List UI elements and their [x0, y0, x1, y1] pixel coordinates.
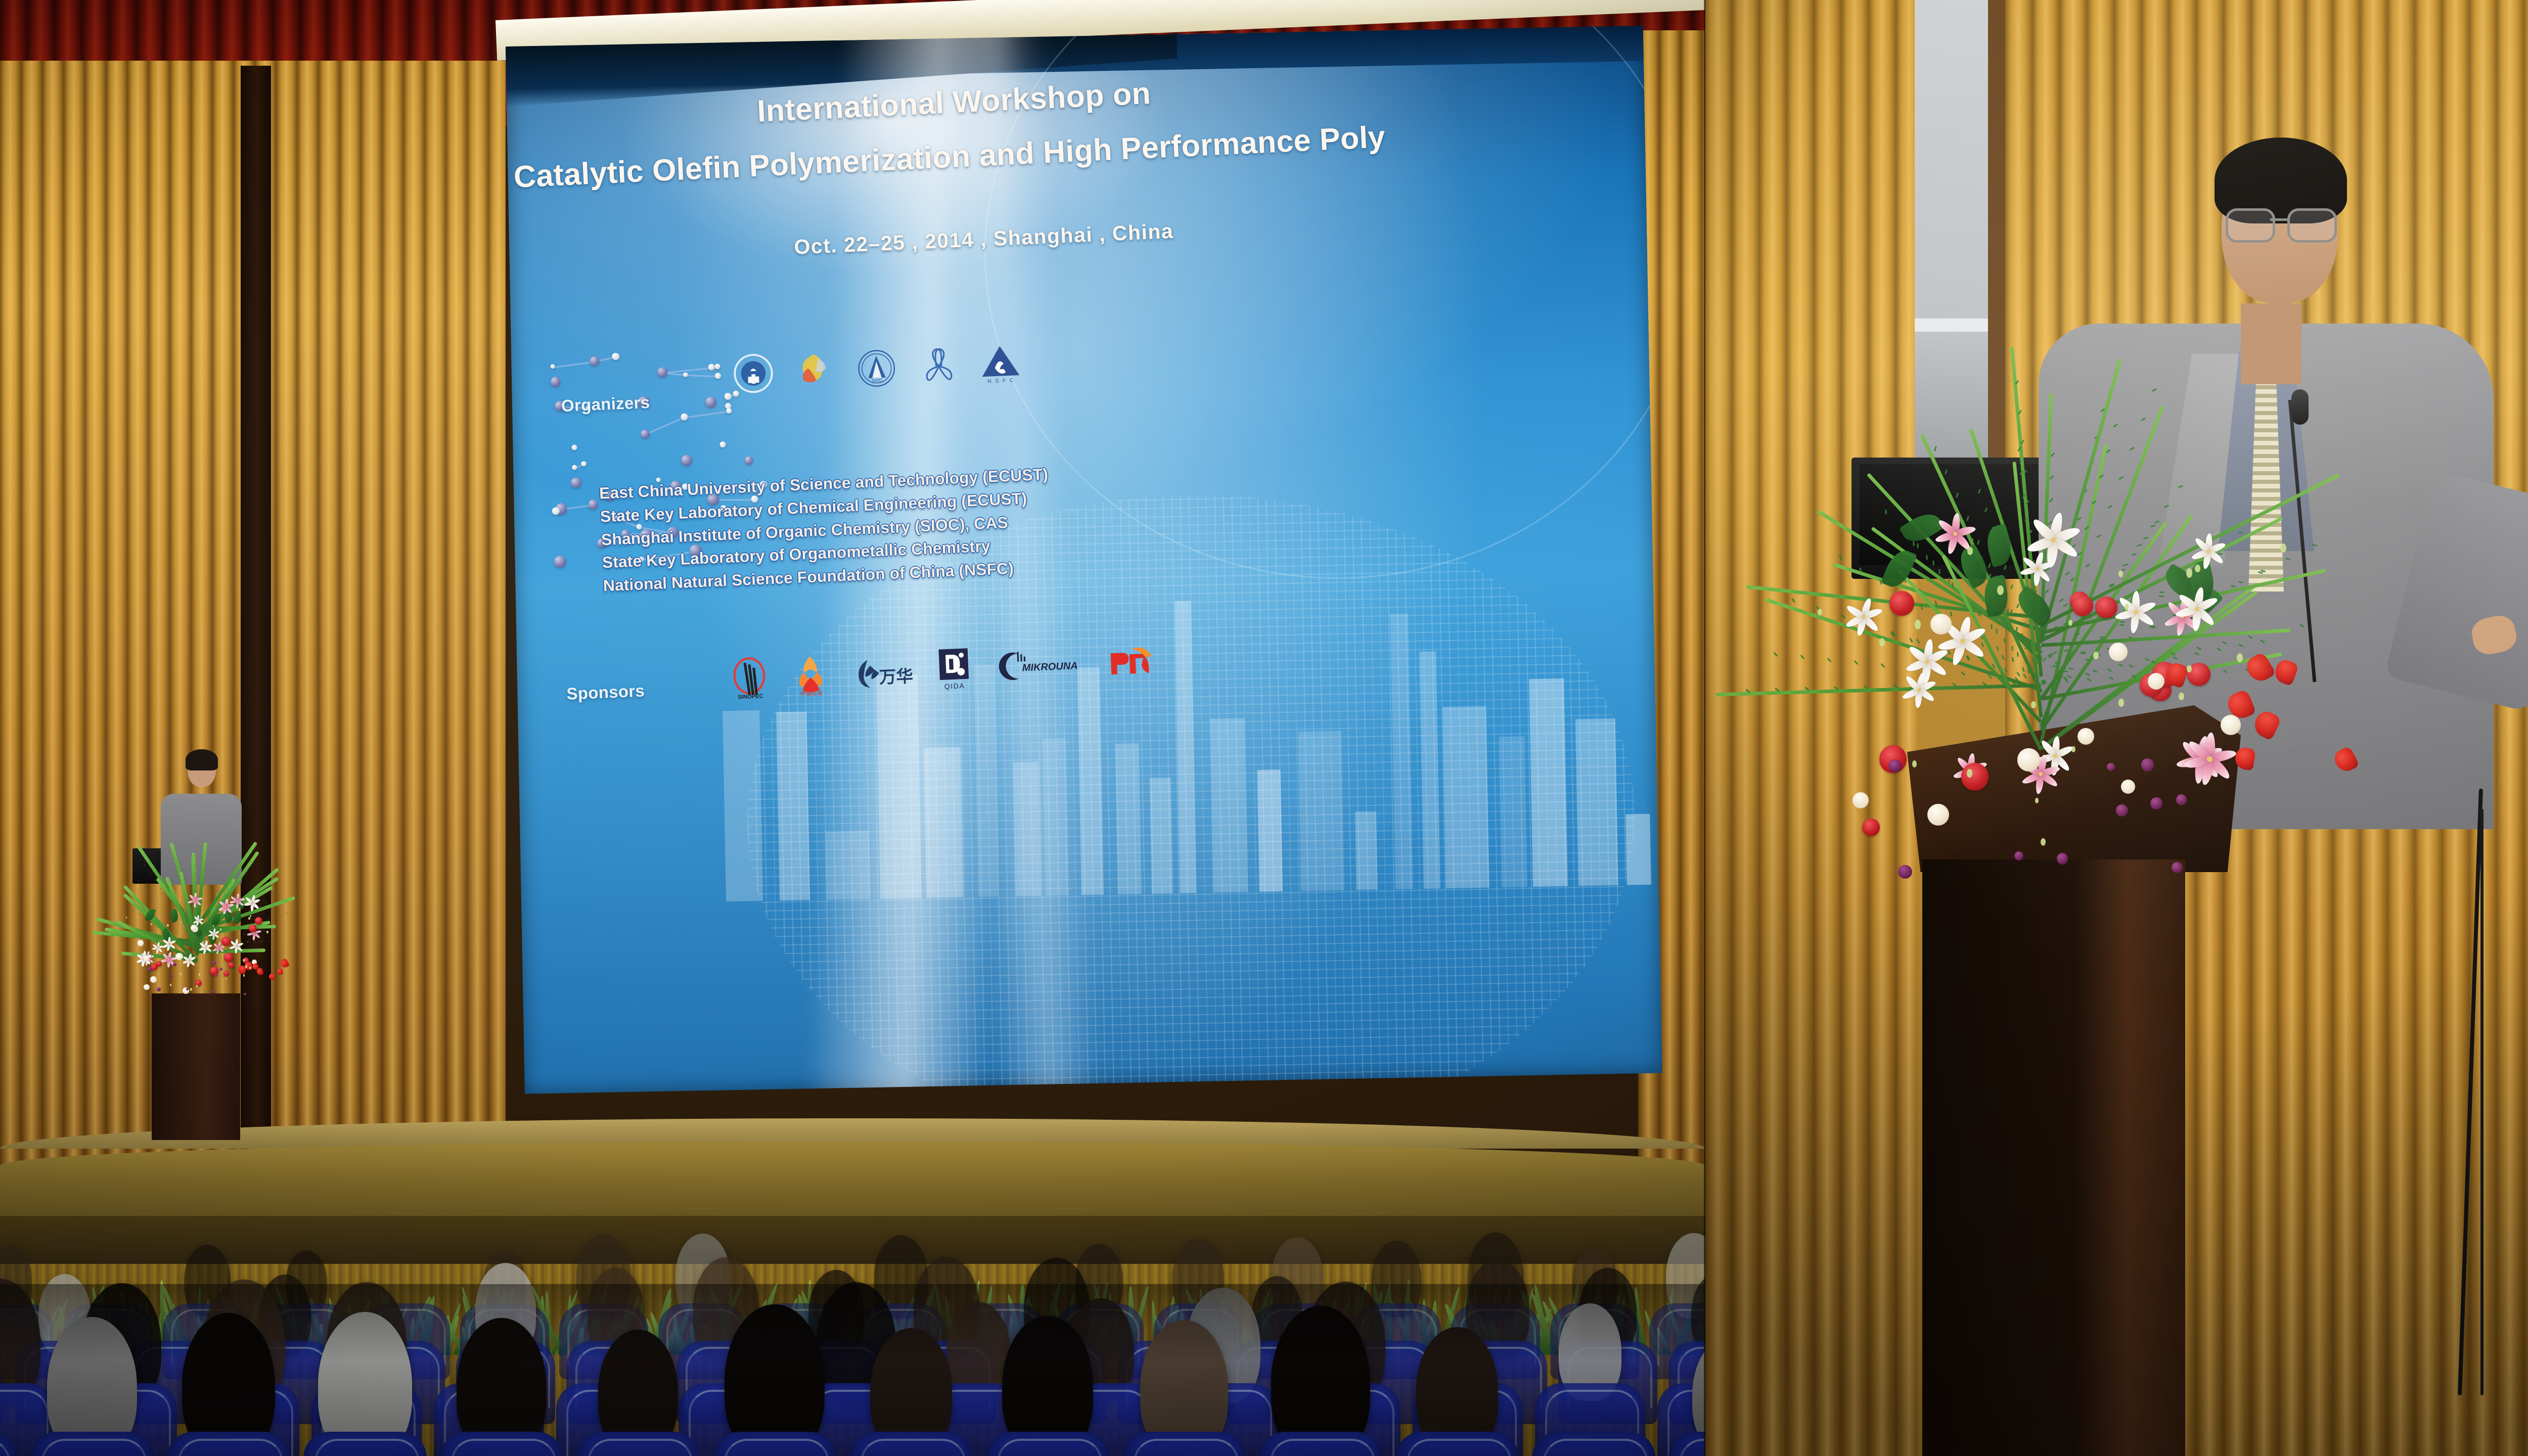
palm-leaflet	[175, 887, 176, 889]
palm-leaflet	[2218, 553, 2223, 555]
palm-leaflet	[1947, 650, 1951, 655]
palm-leaflet	[151, 894, 152, 895]
flower-bud	[250, 915, 251, 917]
palm-leaflet	[203, 878, 205, 879]
palm-leaflet	[2051, 452, 2055, 457]
palm-leaflet	[2010, 584, 2013, 589]
skyline-building	[1442, 706, 1489, 888]
palm-leaflet	[125, 906, 126, 908]
molecule-atom	[590, 356, 600, 366]
wanhua-logo: 万华	[849, 649, 917, 694]
anthurium	[2234, 747, 2256, 771]
skyline-building	[1626, 814, 1651, 885]
palm-leaflet	[1988, 563, 1991, 568]
palm-leaflet	[2118, 476, 2124, 480]
palm-leaflet	[268, 919, 269, 920]
cream-rose	[138, 940, 144, 946]
palm-leaflet	[115, 919, 117, 921]
palm-leaflet	[263, 930, 265, 931]
purple-orchid	[219, 968, 222, 971]
palm-leaflet	[2004, 668, 2008, 673]
palm-leaflet	[2109, 676, 2114, 680]
molecule-atom	[572, 465, 577, 470]
cream-rose	[2078, 728, 2095, 745]
molecule-bond	[684, 411, 729, 418]
palm-leaflet	[2222, 641, 2227, 645]
pti-logo	[1098, 640, 1161, 685]
palm-leaflet	[2004, 638, 2006, 643]
podium-closeup	[1922, 859, 2185, 1456]
svg-text:QIDA: QIDA	[944, 681, 965, 691]
palm-leaflet	[227, 924, 228, 925]
molecule-atom	[719, 441, 726, 448]
cream-rose	[150, 976, 157, 983]
palm-leaflet	[176, 931, 177, 933]
purple-orchid	[170, 975, 173, 977]
flower-bud	[1967, 547, 1973, 555]
molecule-atom	[683, 372, 688, 377]
flower-bud	[239, 908, 241, 911]
lily-center	[253, 932, 255, 934]
flower-bud	[2068, 620, 2072, 626]
eyeglasses-icon	[2287, 208, 2337, 243]
purple-orchid	[2057, 853, 2068, 864]
flower-bud	[2041, 838, 2046, 846]
palm-leaflet	[2137, 544, 2142, 547]
palm-leaflet	[140, 914, 141, 915]
palm-leaflet	[1854, 660, 1859, 665]
city-skyline-graphic	[720, 571, 1636, 901]
cream-rose	[144, 984, 150, 990]
ecust-seal-logo	[733, 353, 774, 394]
palm-leaflet	[259, 941, 261, 943]
palm-leaflet	[2159, 596, 2164, 598]
flower-bud	[1879, 638, 1885, 647]
palm-frond	[1716, 684, 2041, 696]
palm-leaflet	[152, 929, 153, 931]
palm-leaflet	[216, 942, 217, 943]
lily-center	[1925, 659, 1929, 664]
palm-leaflet	[1926, 555, 1928, 560]
skyline-building	[1257, 769, 1283, 892]
palm-leaflet	[2238, 644, 2243, 648]
red-rose	[1862, 818, 1880, 836]
palm-leaflet	[2223, 669, 2228, 673]
flower-bud	[1912, 760, 1917, 767]
palm-leaflet	[2149, 626, 2154, 628]
podium-wide	[152, 993, 240, 1140]
molecule-atom	[612, 353, 619, 360]
palm-leaflet	[2061, 667, 2066, 669]
palm-leaflet	[2150, 525, 2155, 527]
red-rose	[221, 937, 231, 946]
molecule-atom	[725, 393, 732, 400]
palm-leaflet	[2173, 656, 2178, 660]
skyline-building	[1150, 778, 1173, 894]
skyline-building	[1043, 738, 1068, 896]
palm-leaflet	[2285, 558, 2290, 560]
broad-leaf	[233, 911, 242, 924]
palm-leaflet	[1934, 446, 1937, 451]
palm-leaflet	[1948, 577, 1950, 582]
palm-leaflet	[1916, 639, 1920, 644]
auditorium-seat	[1122, 1432, 1246, 1456]
cream-rose	[1930, 614, 1952, 635]
molecule-atom	[708, 364, 715, 371]
purple-orchid	[173, 963, 176, 966]
audience-seating-left	[0, 1284, 1705, 1456]
flower-arrangement-closeup	[1705, 445, 2377, 900]
palm-leaflet	[2238, 531, 2243, 533]
sinopec-logo: SINOPEC	[727, 655, 772, 699]
palm-leaflet	[2059, 599, 2064, 603]
skyline-building	[974, 664, 998, 897]
flower-bud	[248, 917, 250, 920]
palm-leaflet	[2002, 655, 2005, 660]
palm-leaflet	[158, 900, 158, 902]
palm-leaflet	[1977, 539, 1980, 544]
flower-bud	[2187, 665, 2192, 672]
palm-leaflet	[2107, 668, 2112, 672]
wide-auditorium-panel: International Workshop on Catalytic Olef…	[0, 0, 1705, 1456]
palm-leaflet	[1791, 598, 1795, 603]
palm-leaflet	[2085, 564, 2090, 568]
palm-leaflet	[2196, 647, 2201, 650]
auditorium-seat	[1532, 1432, 1655, 1456]
conference-banner: International Workshop on Catalytic Olef…	[506, 26, 1662, 1094]
palm-leaflet	[204, 939, 205, 939]
palm-leaflet	[224, 933, 225, 934]
flower-bud	[2118, 570, 2123, 577]
speaker-hair-wide	[186, 749, 218, 770]
molecule-atom	[715, 364, 720, 370]
palm-leaflet	[1996, 646, 1999, 651]
palm-leaflet	[2248, 635, 2253, 639]
palm-leaflet	[270, 896, 272, 896]
red-rose	[2095, 597, 2117, 619]
purple-orchid	[2176, 794, 2187, 805]
anthurium	[2331, 745, 2359, 775]
flower-bud	[190, 988, 192, 991]
palm-leaflet	[2050, 475, 2054, 479]
palm-leaflet	[2096, 534, 2101, 538]
purple-orchid	[148, 967, 152, 972]
flower-bud	[2031, 701, 2036, 708]
purple-orchid	[2014, 851, 2023, 860]
flower-bud	[196, 985, 198, 987]
flower-bud	[1915, 620, 1921, 629]
palm-leaflet	[160, 888, 161, 889]
purple-orchid	[212, 990, 215, 993]
auditorium-seat	[849, 1432, 973, 1456]
lily-center	[2134, 610, 2138, 614]
purple-orchid	[186, 988, 189, 990]
palm-leaflet	[1952, 583, 1954, 588]
palm-leaflet	[1839, 555, 1842, 560]
auditorium-seat	[30, 1432, 154, 1456]
petrochina-logo: 中国石油	[789, 653, 833, 697]
palm-leaflet	[2154, 521, 2159, 523]
skyline-building	[1419, 651, 1440, 889]
palm-leaflet	[2085, 672, 2090, 676]
molecule-atom	[726, 408, 732, 414]
lily-center	[237, 900, 238, 902]
purple-orchid	[215, 974, 217, 977]
flower-bud	[180, 973, 182, 975]
skyline-building	[1013, 762, 1041, 896]
skyline-building	[1175, 601, 1196, 893]
molecule-atom	[572, 444, 577, 450]
palm-leaflet	[178, 922, 178, 923]
palm-leaflet	[169, 902, 169, 904]
cream-rose	[1927, 804, 1949, 826]
palm-leaflet	[263, 900, 265, 901]
palm-leaflet	[244, 934, 245, 935]
flower-bud	[213, 936, 214, 938]
cream-rose	[144, 955, 149, 961]
palm-leaflet	[143, 927, 144, 928]
background-wall	[1915, 0, 1996, 475]
palm-leaflet	[1961, 671, 1966, 676]
molecule-bond	[686, 375, 718, 378]
flower-bud	[199, 973, 200, 976]
red-rose	[1889, 591, 1914, 616]
skyline-building	[1115, 743, 1142, 894]
palm-leaflet	[253, 941, 255, 943]
palm-leaflet	[177, 924, 178, 926]
palm-leaflet	[166, 895, 166, 897]
molecule-atom	[571, 477, 582, 488]
panel-seam	[1704, 0, 1705, 1456]
molecule-bond	[645, 417, 685, 436]
sklce-petal-logo	[794, 350, 835, 391]
palm-leaflet	[138, 888, 139, 890]
eyeglasses-bridge	[2270, 218, 2288, 221]
flower-bud	[245, 965, 247, 968]
lily-center	[1861, 615, 1865, 619]
flower-bud	[1818, 609, 1822, 615]
organizers-list: East China University of Science and Tec…	[599, 463, 1052, 598]
palm-leaflet	[1991, 624, 1993, 629]
purple-orchid	[2141, 758, 2154, 771]
palm-leaflet	[185, 930, 185, 932]
lily-center	[2039, 772, 2043, 776]
palm-leaflet	[186, 883, 187, 885]
palm-leaflet	[183, 935, 184, 937]
palm-leaflet	[2143, 537, 2148, 539]
qida-logo: QIDA	[934, 647, 974, 691]
palm-leaflet	[202, 894, 203, 895]
anthurium	[277, 968, 284, 976]
flower-bud	[2071, 746, 2075, 752]
palm-leaflet	[240, 881, 242, 882]
sklomc-flower-logo	[918, 345, 959, 386]
palm-leaflet	[2045, 589, 2050, 594]
skyline-building	[1210, 718, 1248, 893]
palm-leaflet	[231, 895, 232, 896]
palm-leaflet	[2017, 652, 2019, 657]
lily-center	[189, 960, 190, 962]
palm-leaflet	[236, 887, 237, 888]
flower-bud	[2093, 652, 2098, 659]
flower-bud	[1997, 585, 2003, 595]
flower-bud	[191, 957, 192, 959]
palm-leaflet	[161, 893, 162, 894]
auditorium-seat	[986, 1432, 1109, 1456]
red-rose	[223, 971, 230, 977]
palm-leaflet	[184, 908, 185, 909]
palm-leaflet	[2080, 653, 2085, 655]
palm-leaflet	[277, 916, 279, 917]
palm-leaflet	[2011, 657, 2014, 662]
molecule-atom	[705, 396, 717, 408]
speaker-closeup-panel	[1705, 0, 2528, 1456]
palm-leaflet	[1981, 642, 1984, 647]
palm-leaflet	[172, 907, 173, 909]
molecule-atom	[641, 430, 650, 439]
palm-leaflet	[232, 923, 233, 923]
anthurium	[2272, 657, 2299, 687]
molecule-atom	[657, 367, 667, 377]
purple-orchid	[2150, 797, 2162, 809]
flower-bud	[2237, 653, 2243, 662]
red-rose	[156, 961, 162, 967]
anthurium	[2250, 708, 2282, 741]
molecule-atom	[550, 364, 555, 369]
palm-leaflet	[217, 887, 219, 888]
lily-center	[1953, 532, 1957, 536]
flower-bud	[249, 967, 251, 969]
palm-leaflet	[130, 936, 132, 938]
palm-leaflet	[2042, 657, 2047, 662]
auditorium-seat	[440, 1432, 563, 1456]
palm-leaflet	[2231, 585, 2236, 587]
palm-leaflet	[265, 902, 267, 903]
skyline-building	[876, 675, 921, 899]
palm-leaflet	[268, 940, 270, 942]
flower-bud	[243, 959, 244, 962]
palm-leaflet	[151, 900, 152, 902]
palm-leaflet	[2011, 646, 2013, 651]
palm-leaflet	[1996, 628, 1997, 633]
palm-leaflet	[165, 897, 165, 899]
palm-leaflet	[2144, 658, 2149, 661]
palm-leaflet	[2107, 505, 2112, 509]
palm-leaflet	[1966, 516, 1969, 521]
red-rose	[1961, 763, 1989, 791]
purple-orchid	[1898, 865, 1912, 879]
molecule-atom	[551, 377, 561, 387]
palm-leaflet	[164, 907, 165, 909]
lily-center	[2195, 607, 2199, 611]
purple-orchid	[244, 993, 246, 995]
sioc-logo: SIOC	[856, 348, 897, 389]
molecule-atom	[552, 507, 560, 515]
anthurium	[279, 958, 290, 969]
microphone-icon	[2291, 389, 2309, 425]
flower-bud	[2125, 604, 2129, 610]
flower-bud	[2195, 565, 2200, 573]
palm-leaflet	[158, 906, 158, 908]
palm-leaflet	[2023, 674, 2027, 679]
palm-leaflet	[2119, 624, 2125, 626]
molecule-atom	[681, 454, 693, 466]
palm-leaflet	[1956, 492, 1959, 497]
skyline-building	[826, 831, 870, 899]
lily-center	[157, 947, 158, 948]
red-rose	[228, 962, 234, 968]
cream-rose	[2121, 780, 2136, 794]
nsfc-triangle-logo: N S F C	[979, 343, 1020, 384]
skyline-building	[1390, 614, 1413, 889]
palm-leaflet	[2017, 671, 2021, 676]
sponsors-label: Sponsors	[566, 681, 645, 703]
palm-leaflet	[249, 910, 250, 911]
auditorium-seat	[167, 1432, 290, 1456]
palm-leaflet	[2217, 648, 2222, 652]
palm-leaflet	[2260, 640, 2265, 644]
skyline-building	[1077, 667, 1104, 895]
organizers-label: Organizers	[561, 393, 650, 416]
palm-leaflet	[219, 911, 221, 912]
broad-leaf	[169, 908, 179, 923]
palm-leaflet	[2159, 591, 2164, 593]
palm-leaflet	[178, 894, 179, 896]
cream-rose	[2017, 748, 2040, 771]
skyline-building	[924, 747, 963, 898]
flower-bud	[170, 984, 171, 986]
purple-orchid	[2172, 862, 2183, 873]
molecule-atom	[554, 556, 567, 568]
palm-leaflet	[1938, 569, 1940, 574]
palm-leaflet	[1827, 658, 1832, 662]
skyline-building	[1499, 737, 1527, 888]
palm-leaflet	[1885, 509, 1887, 514]
palm-leaflet	[217, 939, 218, 940]
palm-leaflet	[171, 903, 171, 905]
purple-orchid	[2107, 763, 2115, 771]
flower-bud	[126, 917, 127, 919]
palm-leaflet	[2068, 667, 2073, 670]
palm-leaflet	[1800, 655, 1805, 659]
palm-leaflet	[2194, 652, 2199, 656]
palm-leaflet	[2052, 651, 2057, 655]
speaker-neck	[2241, 303, 2301, 384]
palm-leaflet	[172, 881, 173, 882]
auditorium-seat	[713, 1432, 836, 1456]
skyline-building	[1298, 731, 1344, 891]
skyline-building	[723, 710, 763, 901]
palm-leaflet	[2049, 497, 2053, 502]
palm-leaflet	[1913, 541, 1915, 546]
palm-leaflet	[2120, 621, 2125, 623]
flower-bud	[2118, 699, 2124, 706]
palm-leaflet	[1909, 638, 1913, 643]
skyline-building	[1355, 811, 1378, 890]
palm-leaflet	[168, 928, 169, 929]
palm-leaflet	[2118, 663, 2124, 667]
molecule-atom	[681, 413, 688, 420]
lily-center	[2207, 756, 2212, 761]
palm-leaflet	[2087, 677, 2092, 681]
palm-leaflet	[235, 889, 236, 890]
palm-leaflet	[1984, 508, 1988, 513]
palm-leaflet	[138, 880, 139, 881]
palm-leaflet	[2064, 679, 2069, 683]
palm-leaflet	[286, 913, 288, 914]
palm-leaflet	[200, 910, 202, 912]
flower-bud	[2179, 693, 2184, 700]
